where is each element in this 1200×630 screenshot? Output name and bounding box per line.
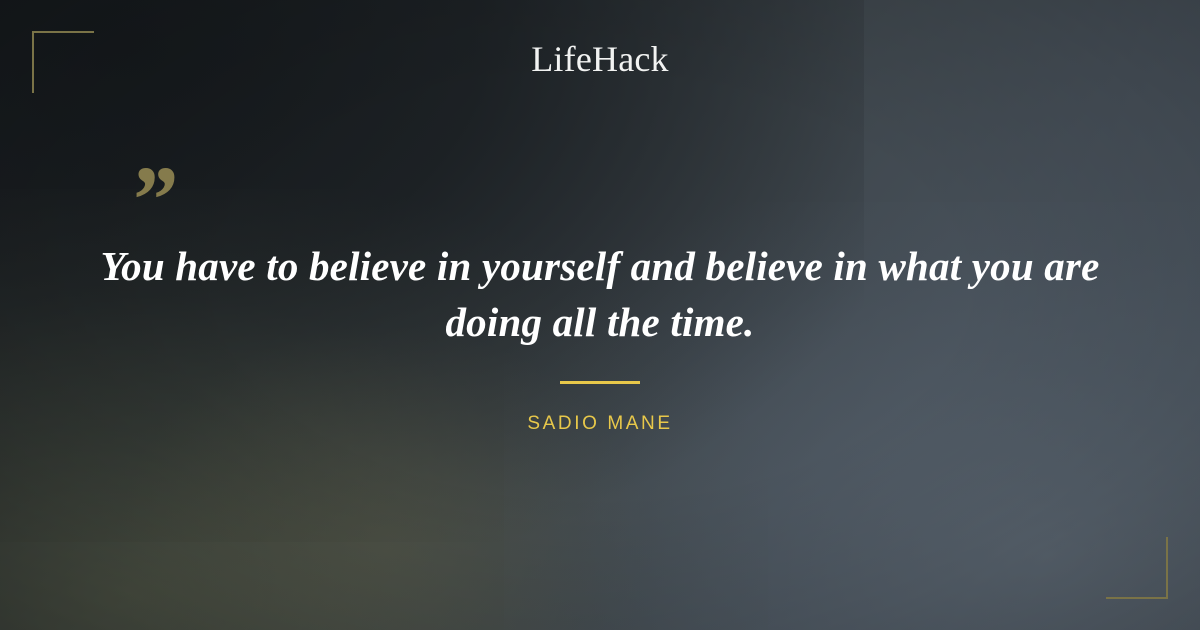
quote-block: You have to believe in yourself and beli…: [96, 238, 1104, 350]
brand-logo: LifeHack: [0, 40, 1200, 80]
quote-card: LifeHack ” You have to believe in yourse…: [0, 0, 1200, 630]
gold-divider: [560, 381, 640, 384]
quotation-mark-icon: ”: [128, 152, 176, 248]
quote-line-2: doing all the time.: [96, 294, 1104, 350]
quote-line-1: You have to believe in yourself and beli…: [96, 238, 1104, 294]
quote-author: SADIO MANE: [0, 413, 1200, 435]
divider-container: [0, 381, 1200, 384]
corner-bracket-bottom-right-icon: [1106, 537, 1168, 599]
